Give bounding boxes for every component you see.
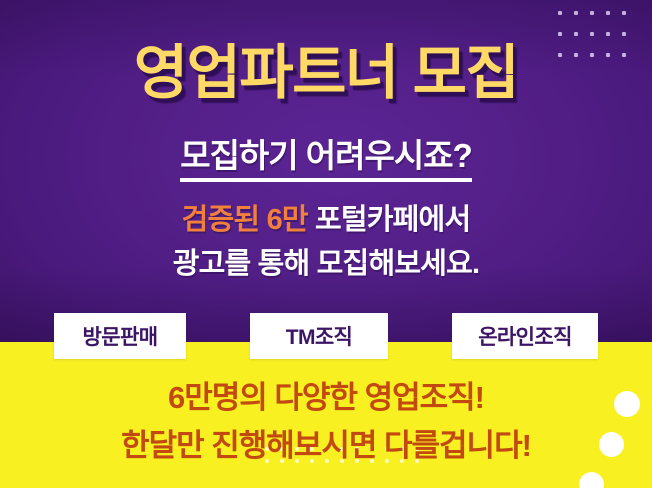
headline: 영업파트너 모집 bbox=[0, 44, 652, 103]
grid-dot bbox=[622, 11, 626, 15]
badge-row: 방문판매 TM조직 온라인조직 bbox=[0, 313, 652, 359]
body-line-2: 광고를 통해 모집해보세요. bbox=[0, 242, 652, 286]
grid-dot bbox=[558, 11, 562, 15]
promo-banner: 영업파트너 모집 모집하기 어려우시죠? 검증된 6만 포털카페에서 광고를 통… bbox=[0, 0, 652, 488]
body-line-1-rest: 포털카페에서 bbox=[308, 204, 471, 236]
badge-tm-organization[interactable]: TM조직 bbox=[250, 313, 388, 359]
circle-decoration-icon bbox=[579, 472, 604, 488]
tagline-line-2: 한달만 진행해보시면 다를겁니다! bbox=[0, 422, 652, 470]
grid-dot bbox=[606, 11, 610, 15]
badge-visit-sales[interactable]: 방문판매 bbox=[54, 313, 186, 359]
body-line-1-accent: 검증된 6만 bbox=[182, 204, 308, 236]
grid-dot bbox=[574, 32, 578, 36]
grid-dot bbox=[622, 32, 626, 36]
grid-dot bbox=[558, 32, 562, 36]
grid-dot bbox=[606, 32, 610, 36]
grid-dot bbox=[574, 11, 578, 15]
body-copy: 검증된 6만 포털카페에서 광고를 통해 모집해보세요. bbox=[0, 198, 652, 286]
badge-online-organization[interactable]: 온라인조직 bbox=[452, 313, 598, 359]
tagline-line-1: 6만명의 다양한 영업조직! bbox=[0, 374, 652, 422]
grid-dot bbox=[590, 11, 594, 15]
subheadline: 모집하기 어려우시죠? bbox=[0, 137, 652, 182]
body-line-1: 검증된 6만 포털카페에서 bbox=[0, 198, 652, 242]
grid-dot bbox=[590, 32, 594, 36]
subheadline-text: 모집하기 어려우시죠? bbox=[180, 137, 472, 182]
tagline: 6만명의 다양한 영업조직! 한달만 진행해보시면 다를겁니다! bbox=[0, 374, 652, 470]
